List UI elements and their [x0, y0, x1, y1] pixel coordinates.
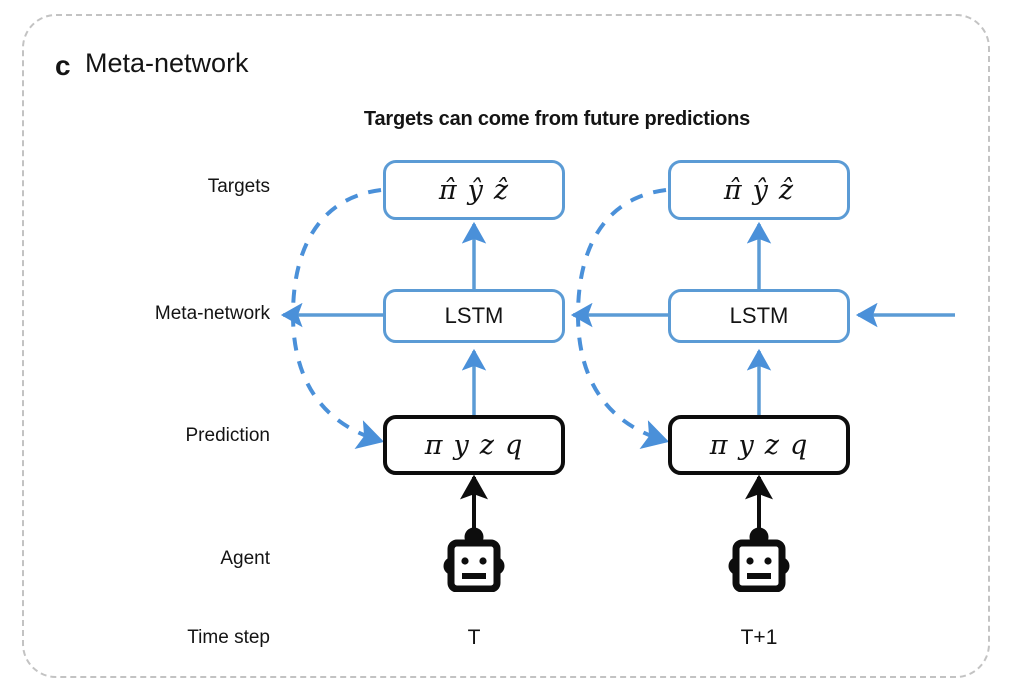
robot-icon — [727, 526, 791, 592]
time-step-value-t: T — [404, 626, 544, 650]
agent-robot-t[interactable] — [442, 526, 506, 597]
row-label-time-step: Time step — [40, 627, 270, 649]
robot-icon — [442, 526, 506, 592]
symbol-y: y — [453, 432, 469, 459]
symbol-y: y — [738, 432, 754, 459]
row-label-agent: Agent — [40, 548, 270, 570]
lstm-label-t-plus-1: LSTM — [730, 303, 789, 329]
symbol-pi-hat: π̂ — [724, 177, 743, 204]
prediction-box-t-plus-1[interactable]: πyzq — [668, 415, 850, 475]
symbol-pi: π — [425, 432, 444, 459]
symbol-z: z — [480, 432, 495, 459]
prediction-box-t[interactable]: πyzq — [383, 415, 565, 475]
symbol-q: q — [505, 432, 523, 459]
symbol-y-hat: ŷ — [753, 177, 769, 204]
diagram-caption-text: Targets can come from future predictions — [364, 108, 750, 130]
row-label-meta-network: Meta-network — [40, 303, 270, 325]
prediction-symbols-t: πyzq — [420, 432, 529, 459]
page-title: Meta-network — [85, 48, 249, 79]
diagram-stage: c Meta-network Targets can come from fut… — [0, 0, 1024, 694]
diagram-caption: Targets can come from future predictions — [0, 108, 1024, 131]
symbol-z-hat: ẑ — [494, 177, 509, 204]
agent-robot-t-plus-1[interactable] — [727, 526, 791, 597]
lstm-box-t-plus-1[interactable]: LSTM — [668, 289, 850, 343]
prediction-symbols-t-plus-1: πyzq — [705, 432, 814, 459]
edges-layer — [0, 0, 1024, 694]
targets-box-t-plus-1[interactable]: π̂ŷẑ — [668, 160, 850, 220]
lstm-label-t: LSTM — [445, 303, 504, 329]
edge-targets-t1-to-prediction-t1 — [578, 190, 666, 441]
row-label-prediction: Prediction — [40, 425, 270, 447]
symbol-z: z — [765, 432, 780, 459]
panel-letter: c — [55, 50, 71, 82]
targets-symbols-t-plus-1: π̂ŷẑ — [719, 177, 799, 204]
symbol-z-hat: ẑ — [779, 177, 794, 204]
time-step-value-t-plus-1: T+1 — [689, 626, 829, 650]
symbol-q: q — [790, 432, 808, 459]
targets-symbols-t: π̂ŷẑ — [434, 177, 514, 204]
lstm-box-t[interactable]: LSTM — [383, 289, 565, 343]
symbol-pi-hat: π̂ — [439, 177, 458, 204]
symbol-pi: π — [710, 432, 729, 459]
edge-targets-t-to-prediction-t — [293, 190, 381, 441]
row-label-targets: Targets — [40, 176, 270, 198]
symbol-y-hat: ŷ — [468, 177, 484, 204]
targets-box-t[interactable]: π̂ŷẑ — [383, 160, 565, 220]
